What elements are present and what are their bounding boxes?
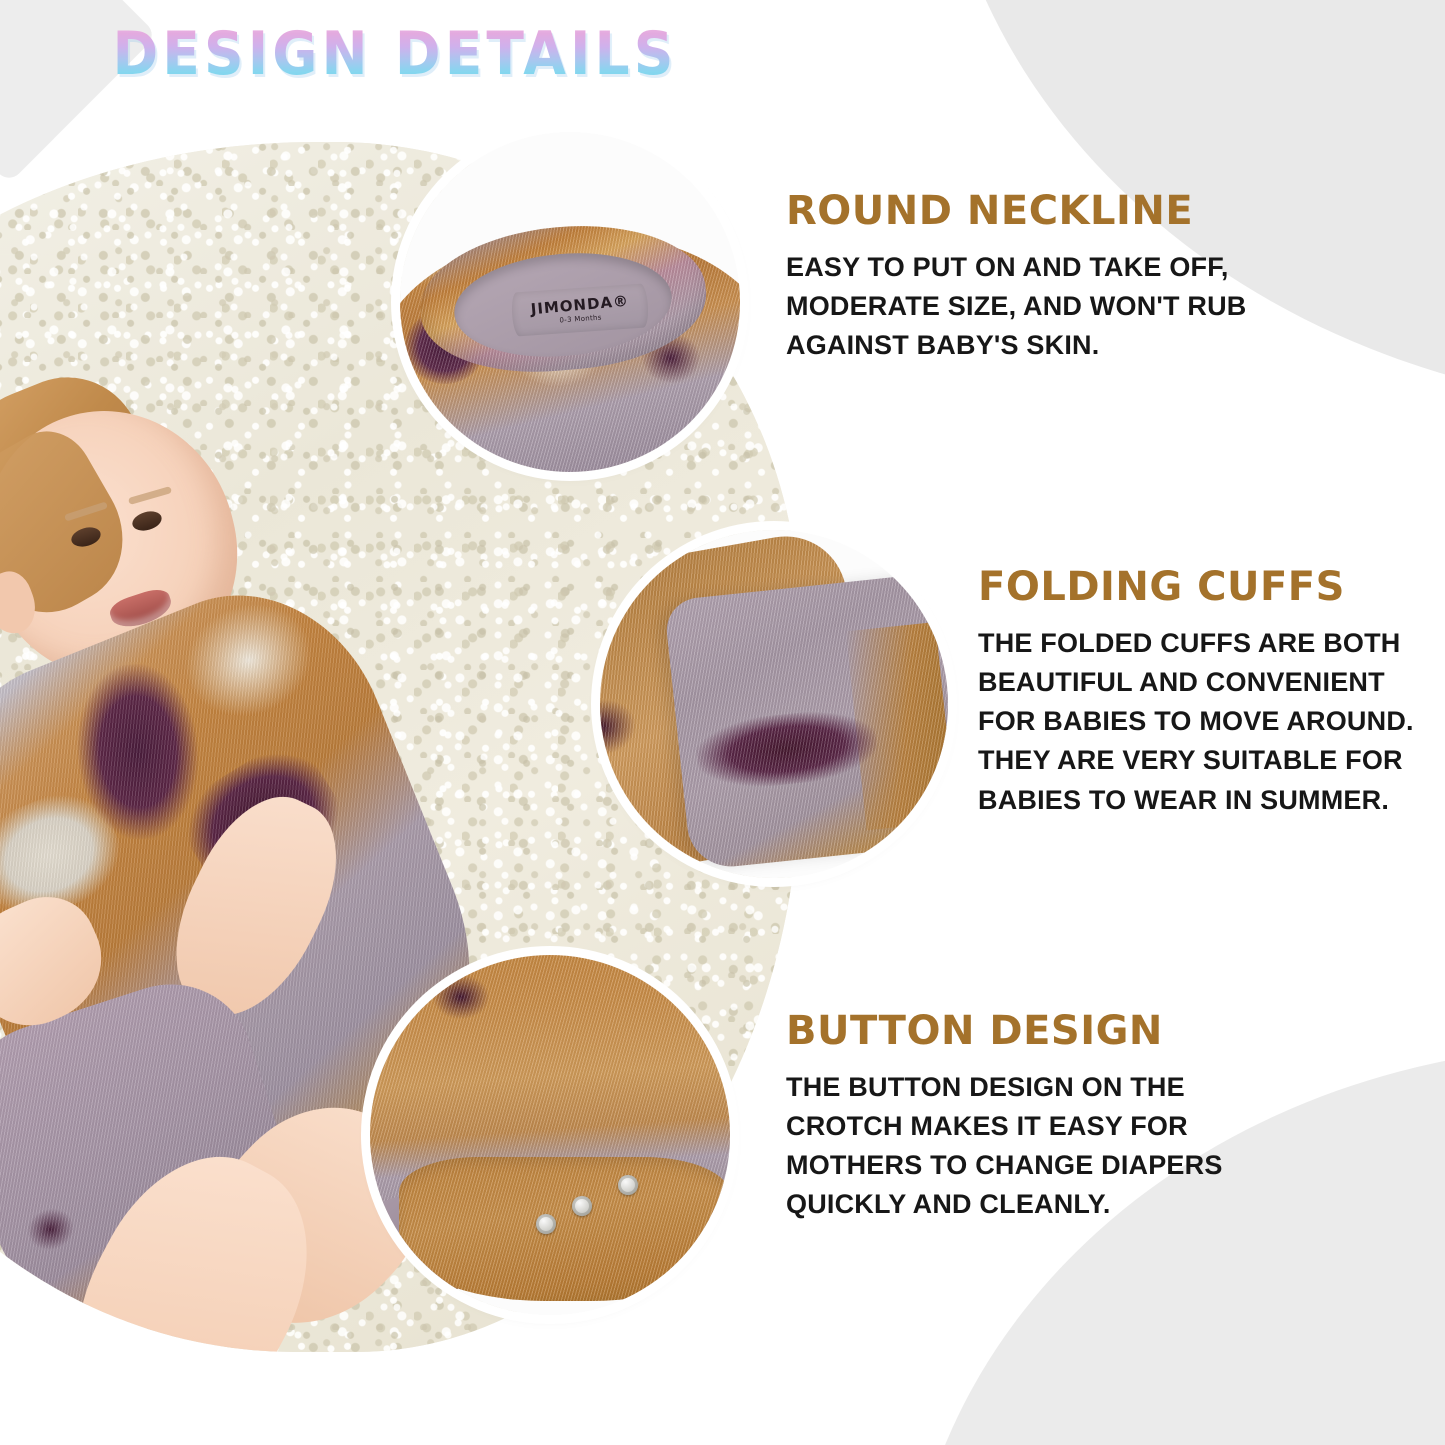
brand-label-text: JIMONDA® <box>530 294 629 318</box>
detail-photo-folding-cuffs <box>600 530 948 878</box>
feature-block-folding-cuffs: FOLDING CUFFS THE FOLDED CUFFS ARE BOTH … <box>978 566 1445 820</box>
crotch-placket <box>399 1157 730 1301</box>
feature-heading-button-design: BUTTON DESIGN <box>786 1010 1306 1052</box>
detail-photo-round-neckline: JIMONDA® 0-3 Months <box>400 132 740 472</box>
feature-block-button-design: BUTTON DESIGN THE BUTTON DESIGN ON THE C… <box>786 1010 1306 1225</box>
feature-heading-folding-cuffs: FOLDING CUFFS <box>978 566 1445 608</box>
feature-block-round-neckline: ROUND NECKLINE EASY TO PUT ON AND TAKE O… <box>786 190 1306 365</box>
page-title: DESIGN DETAILS <box>112 24 677 84</box>
snap-button-2 <box>572 1196 592 1216</box>
waffle-rib-texture <box>399 1157 730 1301</box>
feature-body-folding-cuffs: THE FOLDED CUFFS ARE BOTH BEAUTIFUL AND … <box>978 624 1445 820</box>
page-title-wrapper: DESIGN DETAILS <box>118 24 672 84</box>
waffle-rib-texture <box>663 572 948 871</box>
snap-button-1 <box>536 1214 556 1234</box>
feature-heading-round-neckline: ROUND NECKLINE <box>786 190 1306 232</box>
infographic-canvas: DESIGN DETAILS <box>0 0 1445 1445</box>
feature-body-round-neckline: EASY TO PUT ON AND TAKE OFF, MODERATE SI… <box>786 248 1306 365</box>
folded-cuff-layer <box>663 572 948 871</box>
feature-body-button-design: THE BUTTON DESIGN ON THE CROTCH MAKES IT… <box>786 1068 1306 1225</box>
detail-photo-button-design <box>370 955 730 1315</box>
snap-button-3 <box>618 1175 638 1195</box>
